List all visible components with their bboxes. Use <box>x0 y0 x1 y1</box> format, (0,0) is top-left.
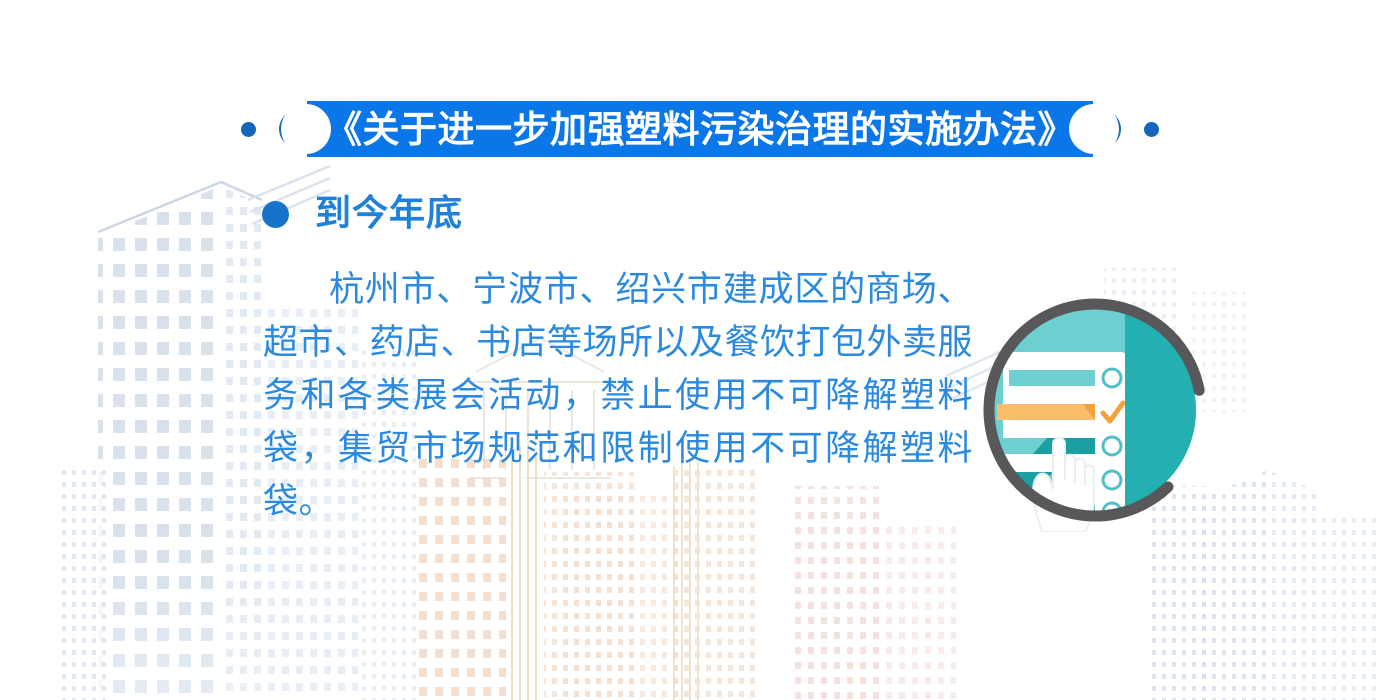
building-left-main <box>98 182 268 700</box>
title-banner-row: 《关于进一步加强塑料污染治理的实施办法》 <box>0 96 1400 162</box>
checklist-circle-illustration <box>975 292 1215 532</box>
subheading-group: 到今年底 <box>262 196 463 232</box>
page-title: 《关于进一步加强塑料污染治理的实施办法》 <box>325 111 1075 148</box>
list-row-bar-2 <box>997 404 1095 420</box>
banner-right-small-dot <box>1144 122 1159 137</box>
title-banner: 《关于进一步加强塑料污染治理的实施办法》 <box>307 101 1093 157</box>
subheading-text: 到今年底 <box>315 196 463 232</box>
banner-left-small-dot <box>241 122 256 137</box>
poster-canvas: 《关于进一步加强塑料污染治理的实施办法》 到今年底 杭州市、宁波市、绍兴市建成区… <box>0 0 1400 700</box>
body-paragraph: 杭州市、宁波市、绍兴市建成区的商场、超市、药店、书店等场所以及餐饮打包外卖服务和… <box>263 264 973 529</box>
bullet-dot-icon <box>262 201 289 228</box>
list-row-bar-1 <box>1009 370 1095 386</box>
building-left-low <box>62 470 108 700</box>
